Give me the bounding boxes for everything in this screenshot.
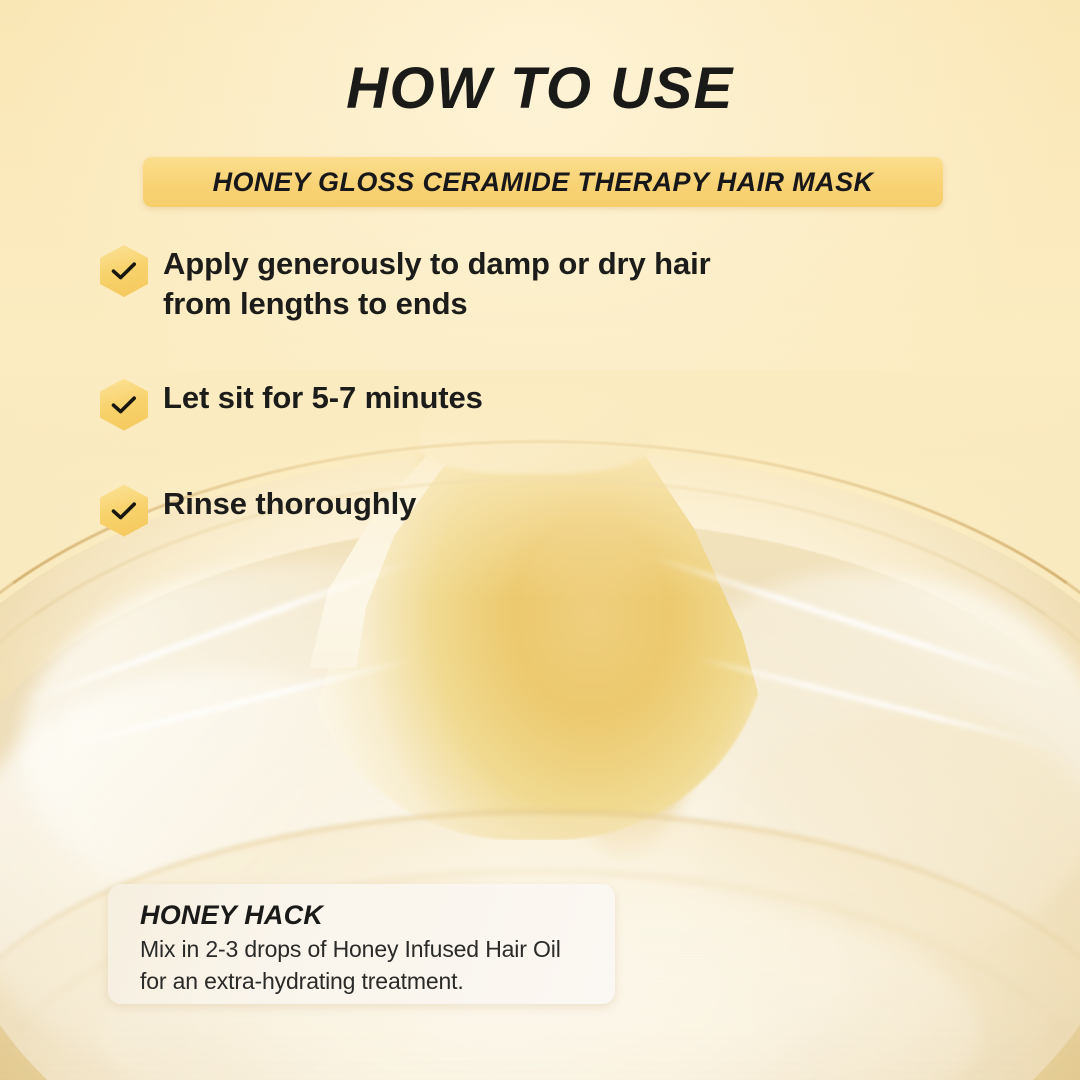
step-text: Let sit for 5-7 minutes xyxy=(163,377,483,418)
check-hexagon-icon xyxy=(100,485,148,537)
step-item: Apply generously to damp or dry hair fro… xyxy=(100,243,900,325)
step-item: Let sit for 5-7 minutes xyxy=(100,377,900,431)
step-line: Rinse thoroughly xyxy=(163,484,416,524)
honey-hack-body: Mix in 2-3 drops of Honey Infused Hair O… xyxy=(140,934,591,997)
step-line: Apply generously to damp or dry hair xyxy=(163,244,711,284)
product-name-banner: HONEY GLOSS CERAMIDE THERAPY HAIR MASK xyxy=(143,157,943,207)
step-item: Rinse thoroughly xyxy=(100,483,900,537)
step-line: Let sit for 5-7 minutes xyxy=(163,378,483,418)
how-to-use-infographic: HOW TO USE HONEY GLOSS CERAMIDE THERAPY … xyxy=(0,0,1080,1080)
step-text: Rinse thoroughly xyxy=(163,483,416,524)
step-text: Apply generously to damp or dry hair fro… xyxy=(163,243,711,325)
product-name-label: HONEY GLOSS CERAMIDE THERAPY HAIR MASK xyxy=(213,167,874,198)
honey-hack-title: HONEY HACK xyxy=(140,900,591,930)
check-hexagon-icon xyxy=(100,379,148,431)
check-hexagon-icon xyxy=(100,245,148,297)
step-line: from lengths to ends xyxy=(163,284,711,324)
page-title: HOW TO USE xyxy=(0,60,1080,118)
honey-hack-callout: HONEY HACK Mix in 2-3 drops of Honey Inf… xyxy=(108,884,615,1004)
steps-list: Apply generously to damp or dry hair fro… xyxy=(100,243,900,537)
